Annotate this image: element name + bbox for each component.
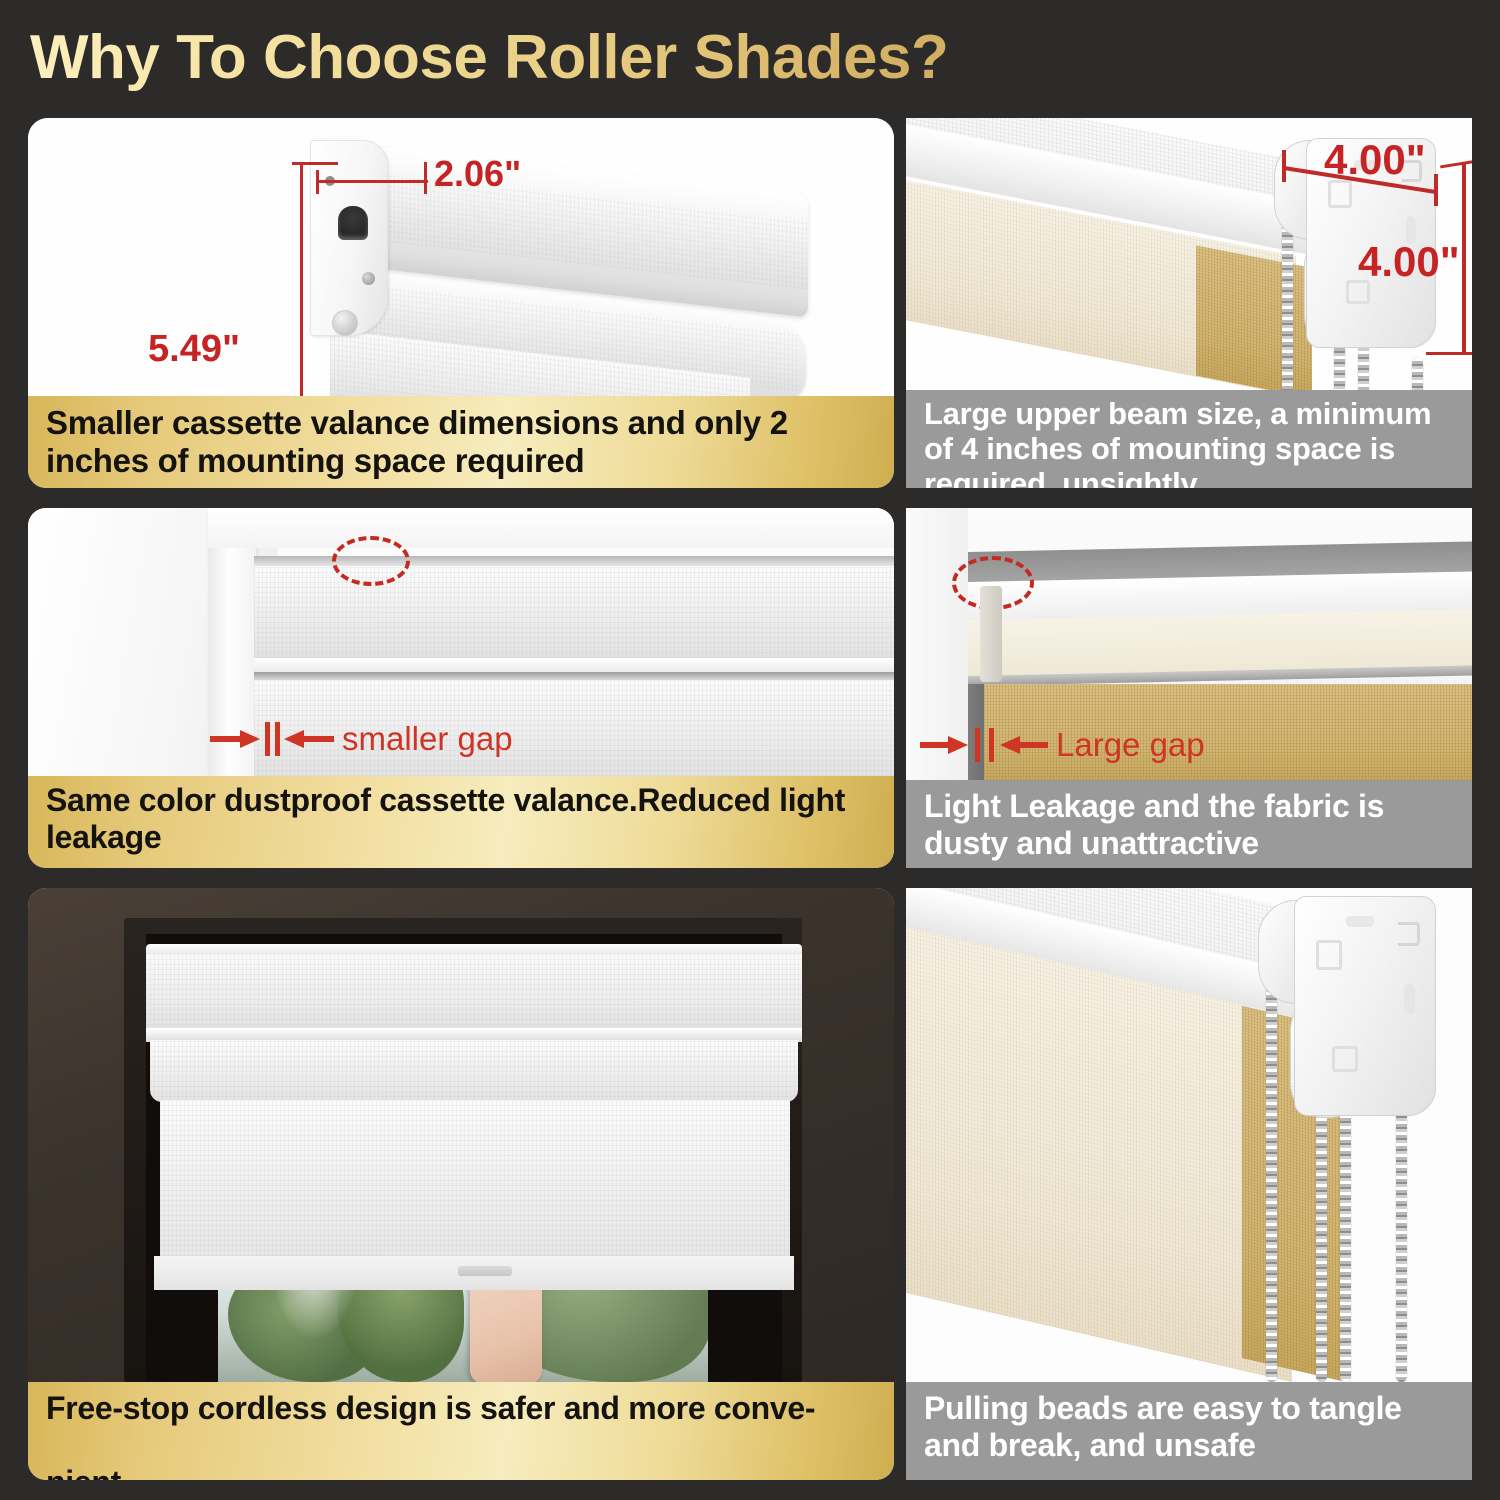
bracket-slot-2 <box>1404 984 1415 1014</box>
window-frame-top-rail <box>208 508 894 548</box>
pro-leakage-caption: Same color dustproof cassette valance.Re… <box>28 776 894 868</box>
pro-cordless-image <box>28 888 894 1382</box>
bead-chain-4[interactable] <box>1396 1110 1407 1382</box>
roller-tube-shadow <box>254 672 894 680</box>
con-side-bracket <box>980 586 1002 682</box>
pro-cordless-caption-text: Free-stop cordless design is safer and m… <box>46 1390 815 1480</box>
pro-valance-face <box>146 954 802 1030</box>
large-gap-annotation: Large gap <box>920 726 1205 764</box>
pro-leakage-image: smaller gap <box>28 508 894 776</box>
pro-cordless-caption-line-1: Free-stop cordless design is safer and m… <box>46 1390 815 1427</box>
con-beads-caption-text: Pulling beads are easy to tangle and bre… <box>924 1390 1456 1464</box>
dim-width-tick-right <box>424 162 427 194</box>
gap-tick-2 <box>989 728 994 762</box>
arrow-left-icon <box>282 726 334 752</box>
panel-con-light-leakage: Large gap Light Leakage and the fabric i… <box>906 508 1472 868</box>
end-cap-roller-slot <box>338 206 368 240</box>
dim-width-line <box>318 180 428 183</box>
con-dim-height-label: 4.00" <box>1358 238 1460 286</box>
pro-leakage-caption-text: Same color dustproof cassette valance.Re… <box>46 782 878 856</box>
con-dim-width-label: 4.00" <box>1324 136 1426 184</box>
panel-pro-mounting: 2.06" 5.49" Smaller cassette valance dim… <box>28 118 894 488</box>
bracket-slot-1 <box>1398 922 1420 946</box>
con-leakage-caption-text: Light Leakage and the fabric is dusty an… <box>924 788 1456 862</box>
pro-cordless-caption: Free-stop cordless design is safer and m… <box>28 1382 894 1480</box>
con-shade-tan-backing <box>1196 245 1312 390</box>
smaller-gap-label: smaller gap <box>342 720 513 758</box>
end-cap-screw-lower <box>332 310 358 336</box>
arrow-left-icon <box>998 732 1048 758</box>
pro-bottom-rail-tab <box>458 1266 512 1276</box>
gap-tick-1 <box>265 722 270 756</box>
gap-highlight-circle <box>332 536 410 586</box>
con-mounting-image: 4.00" 4.00" <box>906 118 1472 390</box>
dim-height-tick-top <box>292 162 338 165</box>
con-leakage-image: Large gap <box>906 508 1472 780</box>
dim-width-label: 2.06" <box>434 153 521 195</box>
gap-tick-1 <box>975 728 980 762</box>
dim-width-tick-left <box>316 170 319 194</box>
bracket-logo-upper-icon <box>1328 180 1352 208</box>
pro-mounting-image: 2.06" 5.49" <box>28 118 894 396</box>
bracket-slot-3 <box>1346 916 1374 927</box>
con-dim-height-tick-bottom <box>1426 352 1472 355</box>
bead-chain-4[interactable] <box>1412 358 1423 390</box>
panel-pro-light-leakage: smaller gap Same color dustproof cassett… <box>28 508 894 868</box>
bracket-logo-upper-icon <box>1316 940 1342 970</box>
con-dim-height-tick-top <box>1440 159 1472 169</box>
con-dim-width-tick-right <box>1434 174 1438 206</box>
con-beads-caption: Pulling beads are easy to tangle and bre… <box>906 1382 1472 1480</box>
con-beads-image <box>906 888 1472 1382</box>
con-leakage-caption: Light Leakage and the fabric is dusty an… <box>906 780 1472 868</box>
panel-con-mounting: 4.00" 4.00" Large upper beam size, a min… <box>906 118 1472 488</box>
pro-mounting-caption: Smaller cassette valance dimensions and … <box>28 396 894 488</box>
panel-pro-cordless: Free-stop cordless design is safer and m… <box>28 888 894 1480</box>
panel-con-beads: Pulling beads are easy to tangle and bre… <box>906 888 1472 1480</box>
arrow-right-icon <box>210 726 262 752</box>
con-dim-height-line <box>1462 164 1466 354</box>
con-mounting-caption-text: Large upper beam size, a minimum of 4 in… <box>924 396 1456 488</box>
dim-height-line <box>300 162 303 396</box>
smaller-gap-annotation: smaller gap <box>210 720 513 758</box>
con-mounting-caption: Large upper beam size, a minimum of 4 in… <box>906 390 1472 488</box>
end-cap-screw-upper <box>362 272 375 285</box>
pro-shade-roll <box>150 1040 798 1102</box>
con-dim-width-tick-left <box>1282 150 1286 182</box>
bracket-logo-lower-icon <box>1332 1046 1358 1072</box>
large-gap-label: Large gap <box>1056 726 1205 764</box>
arrow-right-icon <box>920 732 970 758</box>
pro-mounting-caption-text: Smaller cassette valance dimensions and … <box>46 404 878 480</box>
page-title: Why To Choose Roller Shades? <box>30 18 1230 98</box>
dim-height-label: 5.49" <box>148 328 240 371</box>
pro-cordless-caption-line-2: nient <box>46 1464 815 1480</box>
gap-tick-2 <box>275 722 280 756</box>
